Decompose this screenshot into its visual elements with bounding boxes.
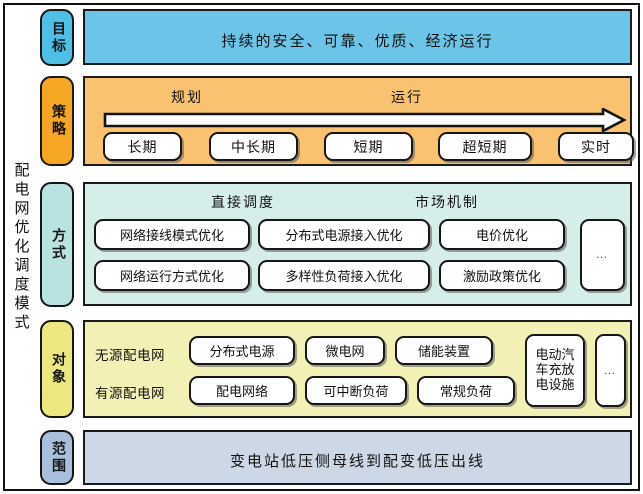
- method-chip-network-operation-optimization[interactable]: 网络运行方式优化: [94, 260, 250, 291]
- category-pill-strategy-label: 策略: [50, 104, 64, 138]
- category-pill-object-label: 对象: [50, 352, 64, 386]
- ev-chip-line-2: 车充放: [535, 363, 574, 378]
- category-pill-method-label: 方式: [50, 228, 64, 262]
- object-label-active-network: 有源配电网: [95, 382, 165, 402]
- method-header-direct-dispatch: 直接调度: [211, 192, 275, 212]
- master-label-text: 配电网优化调度模式: [13, 162, 28, 333]
- category-pill-strategy: 策略: [40, 76, 74, 166]
- method-chip-more[interactable]: …: [580, 219, 625, 291]
- method-chip-electricity-price-optimization[interactable]: 电价优化: [439, 219, 565, 250]
- goal-banner-text: 持续的安全、可靠、优质、经济运行: [85, 30, 630, 51]
- ev-chip-line-1: 电动汽: [535, 348, 574, 363]
- object-chip-energy-storage[interactable]: 储能装置: [395, 336, 493, 365]
- strategy-header-operation: 运行: [391, 87, 423, 107]
- category-pill-scope-label: 范围: [50, 441, 64, 475]
- method-chip-diverse-load-integration-optimization[interactable]: 多样性负荷接入优化: [258, 260, 430, 291]
- category-pill-scope: 范围: [40, 430, 74, 485]
- object-chip-microgrid[interactable]: 微电网: [305, 336, 385, 365]
- strategy-timeline-arrow: [103, 108, 627, 132]
- object-chip-ev-charging-discharging-facility[interactable]: 电动汽 车充放 电设施: [525, 334, 585, 407]
- object-chip-distributed-generation[interactable]: 分布式电源: [189, 336, 295, 365]
- object-chip-interruptible-load[interactable]: 可中断负荷: [305, 376, 407, 405]
- strategy-header-planning: 规划: [171, 87, 203, 107]
- row-panel-goal: 持续的安全、可靠、优质、经济运行: [83, 9, 632, 65]
- strategy-chip-short-term[interactable]: 短期: [324, 132, 413, 161]
- scope-banner-text: 变电站低压侧母线到配变低压出线: [85, 450, 630, 471]
- ev-chip-line-3: 电设施: [535, 378, 574, 393]
- strategy-chip-real-time[interactable]: 实时: [558, 132, 634, 161]
- row-panel-method: 直接调度 市场机制 网络接线模式优化 分布式电源接入优化 电价优化 网络运行方式…: [83, 182, 632, 306]
- object-chip-distribution-network[interactable]: 配电网络: [189, 376, 295, 405]
- category-pill-goal-label: 目标: [50, 21, 64, 55]
- object-label-passive-network: 无源配电网: [95, 344, 165, 364]
- method-chip-incentive-policy-optimization[interactable]: 激励政策优化: [439, 260, 565, 291]
- method-header-market-mechanism: 市场机制: [415, 192, 479, 212]
- method-chip-dg-integration-optimization[interactable]: 分布式电源接入优化: [258, 219, 430, 250]
- object-chip-conventional-load[interactable]: 常规负荷: [417, 376, 515, 405]
- row-panel-scope: 变电站低压侧母线到配变低压出线: [83, 430, 632, 485]
- strategy-chip-medium-long-term[interactable]: 中长期: [209, 132, 298, 161]
- object-chip-more[interactable]: …: [595, 334, 626, 407]
- category-pill-method: 方式: [40, 182, 74, 307]
- row-panel-strategy: 规划 运行 长期 中长期 短期 超短期 实时: [83, 76, 632, 166]
- strategy-chip-ultra-short-term[interactable]: 超短期: [438, 132, 532, 161]
- category-pill-object: 对象: [40, 320, 74, 418]
- strategy-chip-long-term[interactable]: 长期: [103, 132, 182, 161]
- row-panel-object: 无源配电网 有源配电网 分布式电源 微电网 储能装置 配电网络 可中断负荷 常规…: [83, 320, 632, 418]
- master-label: 配电网优化调度模式: [5, 5, 35, 489]
- method-chip-network-wiring-optimization[interactable]: 网络接线模式优化: [94, 219, 250, 250]
- category-pill-goal: 目标: [40, 9, 74, 66]
- diagram-canvas: 配电网优化调度模式 目标 持续的安全、可靠、优质、经济运行 策略 规划 运行 长…: [0, 0, 643, 494]
